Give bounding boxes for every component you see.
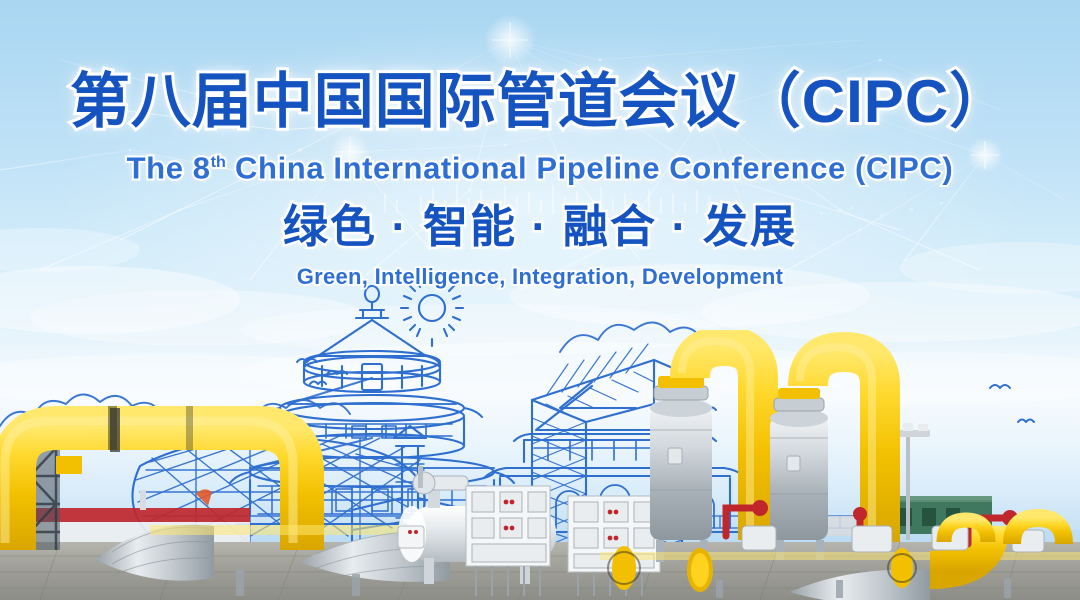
pipeline-station-photo bbox=[0, 330, 1080, 600]
conference-banner: 第八届中国国际管道会议（CIPC） The 8th China Internat… bbox=[0, 0, 1080, 600]
banner-text-block: 第八届中国国际管道会议（CIPC） The 8th China Internat… bbox=[0, 0, 1080, 310]
title-en-rest: China International Pipeline Conference … bbox=[226, 150, 954, 185]
vertical-steel-separator-vessel-2 bbox=[770, 388, 828, 560]
title-en-prefix: The 8 bbox=[127, 150, 211, 185]
tagline-chinese: 绿色 · 智能 · 融合 · 发展 bbox=[0, 199, 1080, 255]
page-title-english: The 8th China International Pipeline Con… bbox=[0, 143, 1080, 187]
tagline-english: Green, Intelligence, Integration, Develo… bbox=[0, 263, 1080, 291]
vessel-top-nozzle bbox=[413, 466, 468, 494]
page-title-chinese: 第八届中国国际管道会议（CIPC） bbox=[0, 66, 1080, 138]
title-en-ordinal: th bbox=[211, 153, 226, 171]
vertical-steel-separator-vessel-1 bbox=[650, 376, 712, 562]
